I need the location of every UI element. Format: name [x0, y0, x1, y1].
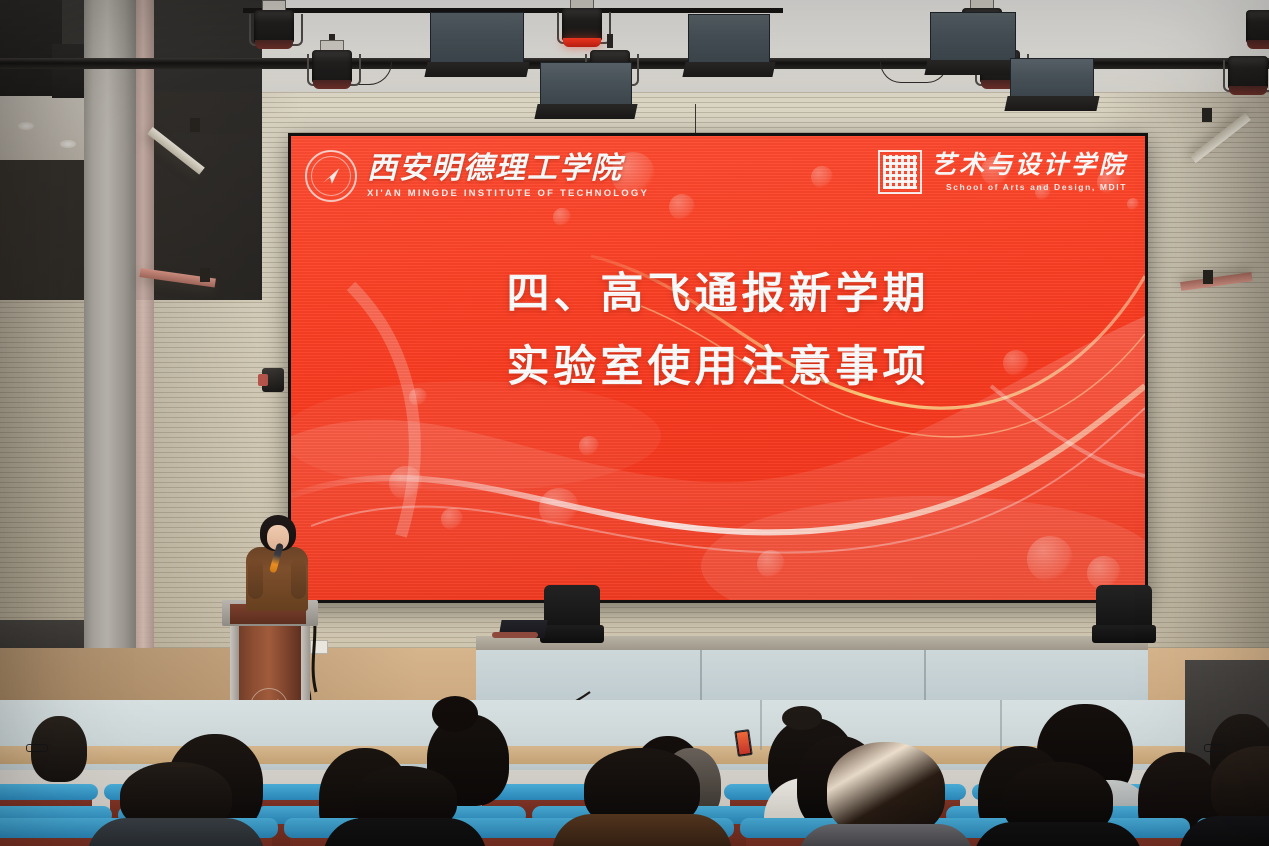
- panel-barn-door: [534, 104, 637, 119]
- panel-face: [430, 12, 524, 66]
- attendee-jacket: [798, 824, 974, 846]
- camera-lens-icon: [258, 374, 268, 386]
- attendee-hair-bun: [782, 706, 822, 730]
- audience-area: [0, 690, 1269, 846]
- department-name-en: School of Arts and Design, MDIT: [931, 182, 1127, 192]
- attendee: [806, 742, 966, 846]
- department-name-cn: 艺术与设计学院: [931, 153, 1127, 178]
- slide-title: 四、高飞通报新学期 实验室使用注意事项: [291, 256, 1145, 407]
- light-body: [1228, 56, 1268, 90]
- light-body: [254, 10, 294, 44]
- university-logo-lockup: 西安明德理工学院 XI'AN MINGDE INSTITUTE OF TECHN…: [305, 150, 649, 202]
- bokeh-circle: [579, 436, 599, 456]
- university-name-cn: 西安明德理工学院: [367, 154, 649, 184]
- attendee: [1188, 746, 1269, 846]
- phone-screen: [737, 731, 751, 754]
- presenter: [246, 515, 308, 611]
- brace-anchor: [1202, 108, 1212, 122]
- attendee-with-glasses: [24, 712, 94, 802]
- concrete-column: [84, 0, 136, 736]
- par-can-light: [1226, 50, 1269, 102]
- presenter-arm-right: [291, 559, 306, 599]
- par-can-light: [310, 44, 354, 96]
- attendee: [330, 766, 480, 846]
- slide-title-line-2: 实验室使用注意事项: [291, 335, 1145, 402]
- panel-face: [1010, 58, 1094, 100]
- attendee: [560, 748, 724, 846]
- chair-back: [1096, 585, 1152, 629]
- led-display-screen[interactable]: 西安明德理工学院 XI'AN MINGDE INSTITUTE OF TECHN…: [288, 133, 1148, 603]
- bokeh-circle: [757, 550, 785, 578]
- bokeh-circle: [553, 208, 571, 226]
- cable-bundle: [492, 632, 538, 638]
- light-body: [312, 50, 352, 84]
- attendee: [96, 762, 256, 846]
- bokeh-circle: [1027, 536, 1073, 582]
- laptop-on-table: [500, 620, 556, 642]
- attendee-jacket: [552, 814, 732, 846]
- attendee-jacket: [323, 818, 487, 846]
- light-stem: [607, 34, 613, 48]
- attendee-jacket: [87, 818, 265, 846]
- presenter-arm-left: [248, 559, 263, 599]
- slide-title-line-1: 四、高飞通报新学期: [291, 262, 1145, 329]
- led-flood-panel: [688, 14, 768, 64]
- light-lens: [255, 40, 293, 49]
- university-seal-icon: [305, 150, 357, 202]
- auditorium-scene: 西安明德理工学院 XI'AN MINGDE INSTITUTE OF TECHN…: [0, 0, 1269, 846]
- led-flood-panel: [430, 12, 522, 64]
- bokeh-circle: [1127, 198, 1139, 210]
- brace-anchor: [200, 268, 210, 282]
- eyeglasses-icon: [26, 744, 48, 752]
- light-body: [562, 8, 602, 42]
- panel-face: [540, 62, 632, 108]
- panel-chair-right: [1092, 585, 1156, 643]
- panel-face: [688, 14, 770, 66]
- bokeh-circle: [389, 466, 423, 500]
- paper-plane-icon: [320, 165, 342, 187]
- bokeh-circle: [441, 508, 463, 530]
- par-can-light: [1244, 4, 1269, 56]
- led-flood-panel: [930, 12, 1014, 62]
- department-glyph-icon: [878, 150, 922, 194]
- university-name-en: XI'AN MINGDE INSTITUTE OF TECHNOLOGY: [367, 188, 649, 199]
- column-edge: [136, 0, 154, 700]
- attendee: [980, 762, 1136, 846]
- bokeh-circle: [811, 166, 833, 188]
- department-logo-lockup: 艺术与设计学院 School of Arts and Design, MDIT: [878, 150, 1127, 194]
- par-can-light: [252, 4, 296, 56]
- brace-anchor: [190, 118, 200, 132]
- bokeh-circle: [539, 488, 579, 528]
- light-lens: [313, 80, 351, 89]
- led-flood-panel: [540, 62, 630, 106]
- attendee-hair-bun: [432, 696, 478, 732]
- panel-barn-door: [1004, 96, 1099, 111]
- chair-seat: [1092, 625, 1156, 643]
- smartphone: [734, 729, 752, 757]
- attendee-jacket: [1179, 816, 1269, 846]
- light-lens: [1229, 86, 1267, 95]
- light-body: [1246, 10, 1269, 44]
- panel-barn-door: [682, 62, 775, 77]
- slide-canvas: 西安明德理工学院 XI'AN MINGDE INSTITUTE OF TECHN…: [291, 136, 1145, 600]
- panel-face: [930, 12, 1016, 64]
- panel-barn-door: [924, 60, 1021, 75]
- brace-anchor: [1203, 270, 1213, 284]
- led-flood-panel: [1010, 58, 1092, 98]
- light-lens: [1247, 40, 1269, 49]
- panel-barn-door: [424, 62, 529, 77]
- attendee-jacket: [973, 822, 1143, 846]
- bokeh-circle: [669, 194, 695, 220]
